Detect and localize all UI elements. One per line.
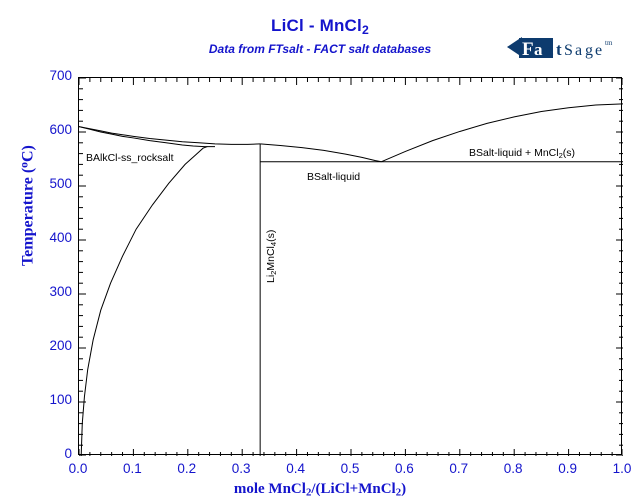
li2mncl4-sub2: 4: [269, 242, 278, 246]
svg-text:a: a: [534, 40, 543, 59]
y-axis-title-post: C): [20, 145, 37, 162]
li2mncl4-suffix: (s): [265, 230, 277, 242]
x-tick-label-0-5: 0.5: [330, 461, 370, 476]
curve-solidus-rocksalt: [79, 127, 215, 147]
li2mncl4-sub1: 2: [269, 271, 278, 275]
svg-text:t: t: [556, 40, 562, 59]
x-tick-label-0-7: 0.7: [439, 461, 479, 476]
factsage-logo: F a c t S a g e tm: [505, 34, 623, 62]
svg-text:g: g: [585, 42, 593, 59]
x-tick-label-0-9: 0.9: [548, 461, 588, 476]
x-tick-label-0-0: 0.0: [58, 461, 98, 476]
y-tick-label-0: 0: [26, 446, 72, 461]
region-label-mncl2-suffix: (s): [563, 147, 575, 159]
region-label-li2mncl4: Li2MnCl4(s): [265, 230, 278, 283]
curve-solvus-rocksalt: [81, 147, 207, 456]
x-axis-title: mole MnCl2/(LiCl+MnCl2): [0, 481, 640, 499]
y-tick-label-100: 100: [26, 392, 72, 407]
x-axis-title-pre: mole MnCl: [234, 481, 306, 497]
x-axis-title-mid: /(LiCl+MnCl: [311, 481, 395, 497]
x-tick-label-0-1: 0.1: [112, 461, 152, 476]
svg-text:c: c: [546, 40, 554, 59]
factsage-logo-svg: F a c t S a g e tm: [505, 34, 623, 62]
svg-text:F: F: [522, 39, 534, 60]
x-tick-label-0-8: 0.8: [493, 461, 533, 476]
region-label-bsalt-liquid: BSalt-liquid: [307, 171, 360, 183]
x-tick-label-0-6: 0.6: [384, 461, 424, 476]
li2mncl4-pre: Li: [265, 275, 277, 283]
y-tick-label-700: 700: [26, 68, 72, 83]
x-tick-label-0-2: 0.2: [167, 461, 207, 476]
degree-sign: o: [18, 162, 30, 168]
y-tick-label-400: 400: [26, 230, 72, 245]
svg-text:e: e: [595, 42, 602, 59]
region-label-mncl2-pre: BSalt-liquid + MnCl: [469, 147, 559, 159]
li2mncl4-mid: MnCl: [265, 246, 277, 271]
svg-text:a: a: [575, 42, 582, 59]
region-label-balkcl-ss-rocksalt: BAlkCl-ss_rocksalt: [86, 152, 174, 164]
x-tick-label-0-3: 0.3: [221, 461, 261, 476]
x-tick-label-1-0: 1.0: [602, 461, 640, 476]
y-tick-label-300: 300: [26, 284, 72, 299]
curve-liquidus-left: [79, 127, 260, 145]
curve-liquidus-right-of-compound: [260, 144, 381, 162]
svg-text:S: S: [564, 42, 573, 59]
region-label-bsalt-liquid-mncl2: BSalt-liquid + MnCl2(s): [469, 147, 575, 160]
y-tick-label-600: 600: [26, 122, 72, 137]
axis-ticks: [79, 78, 623, 456]
phase-diagram-plot: BSalt-liquid BAlkCl-ss_rocksalt BSalt-li…: [78, 77, 622, 455]
svg-text:tm: tm: [605, 39, 613, 47]
x-tick-label-0-4: 0.4: [276, 461, 316, 476]
y-tick-label-200: 200: [26, 338, 72, 353]
page-title-text: LiCl - MnCl: [271, 16, 362, 35]
x-axis-title-end: ): [401, 481, 406, 497]
phase-diagram-svg: [79, 78, 623, 456]
page-title-subscript: 2: [362, 23, 369, 37]
y-tick-label-500: 500: [26, 176, 72, 191]
